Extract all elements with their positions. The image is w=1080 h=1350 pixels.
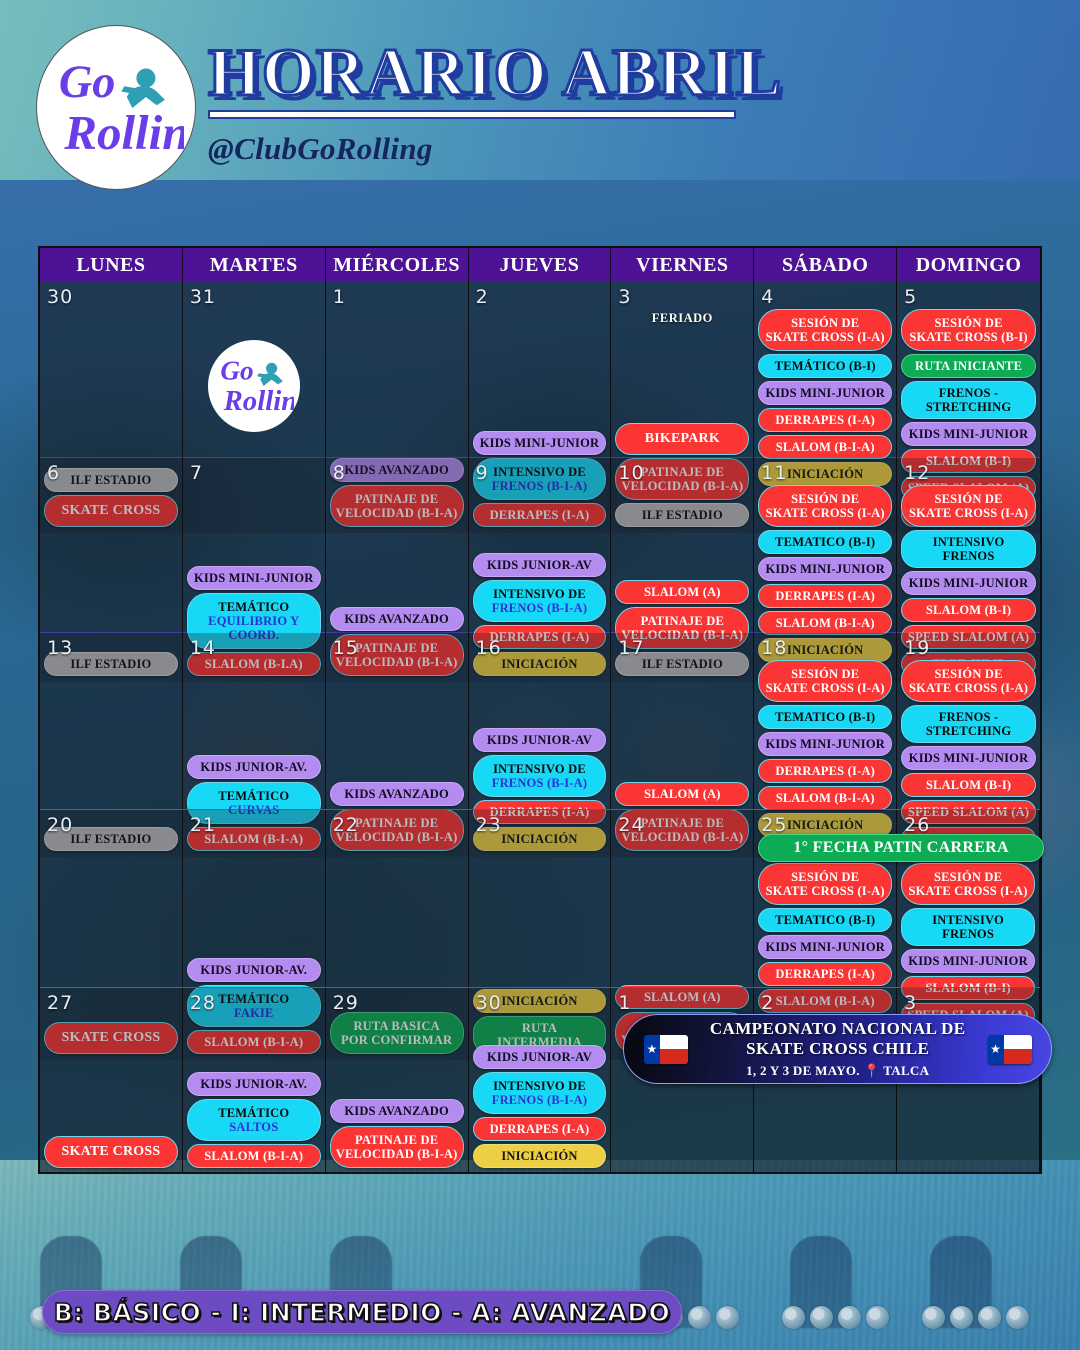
event-pill[interactable]: SESIÓN DESKATE CROSS (I-A) bbox=[901, 863, 1035, 905]
event-pill[interactable]: SLALOM (B-I-A) bbox=[758, 435, 892, 459]
weekday-viernes: VIERNES bbox=[611, 248, 754, 282]
event-label: SLALOM (B-I-A) bbox=[204, 1149, 303, 1163]
event-label: KIDS AVANZADO bbox=[344, 612, 449, 626]
event-label: TEMATICO (B-I) bbox=[775, 535, 875, 549]
day-cell-30[interactable]: 30KIDS JUNIOR-AVINTENSIVO DEFRENOS (B-I-… bbox=[469, 988, 612, 1174]
event-label: INTENSIVO DE bbox=[493, 1079, 586, 1093]
championship-line2: SKATE CROSS CHILE bbox=[710, 1039, 966, 1059]
event-pill[interactable]: KIDS JUNIOR-AV bbox=[473, 1045, 607, 1069]
weekday-sabado: SÁBADO bbox=[754, 248, 897, 282]
event-label: KIDS MINI-JUNIOR bbox=[908, 954, 1028, 968]
event-label: DERRAPES (I-A) bbox=[775, 764, 875, 778]
event-label: DERRAPES (I-A) bbox=[490, 1122, 590, 1136]
legend-bar: B: BÁSICO - I: INTERMEDIO - A: AVANZADO bbox=[42, 1290, 682, 1334]
event-label: INTENSIVO FRENOS bbox=[933, 535, 1005, 563]
event-label: SESIÓN DE bbox=[791, 870, 859, 884]
event-list bbox=[615, 1168, 749, 1170]
day-cell-27[interactable]: 27SKATE CROSS bbox=[40, 988, 183, 1174]
day-number: 23 bbox=[473, 812, 607, 835]
day-number: 21 bbox=[187, 812, 321, 835]
day-number: 5 bbox=[901, 284, 1036, 307]
day-number: 22 bbox=[330, 812, 464, 835]
weekday-header-row: LUNES MARTES MIÉRCOLES JUEVES VIERNES SÁ… bbox=[40, 248, 1040, 282]
event-label: KIDS JUNIOR-AV bbox=[487, 558, 592, 572]
event-sublabel: SKATE CROSS (I-A) bbox=[764, 330, 886, 344]
day-number: 2 bbox=[473, 284, 607, 307]
event-label: INICIACIÓN bbox=[501, 1149, 577, 1163]
day-number: 17 bbox=[615, 635, 749, 658]
event-label: SESIÓN DE bbox=[934, 316, 1002, 330]
event-label: TEMATICO (B-I) bbox=[775, 913, 875, 927]
calendar-week-2: 6ILF ESTADIO7KIDS MINI-JUNIORTEMÁTICOEQU… bbox=[40, 457, 1040, 632]
day-number: 16 bbox=[473, 635, 607, 658]
event-pill[interactable]: KIDS MINI-JUNIOR bbox=[187, 566, 321, 590]
event-pill[interactable]: SESIÓN DESKATE CROSS (I-A) bbox=[758, 485, 892, 527]
event-pill[interactable]: KIDS MINI-JUNIOR bbox=[901, 746, 1036, 770]
event-sublabel: FRENOS (B-I-A) bbox=[479, 776, 601, 790]
event-pill[interactable]: SKATE CROSS bbox=[44, 1136, 178, 1168]
event-label: KIDS MINI-JUNIOR bbox=[909, 751, 1029, 765]
event-label: SKATE CROSS bbox=[62, 1144, 161, 1159]
event-pill[interactable]: TEMATICO (B-I) bbox=[758, 530, 892, 554]
day-number: 10 bbox=[615, 460, 749, 483]
legend-text: B: BÁSICO - I: INTERMEDIO - A: AVANZADO bbox=[54, 1298, 671, 1327]
event-pill[interactable]: INTENSIVO DEFRENOS (B-I-A) bbox=[473, 580, 607, 622]
event-pill[interactable]: FRENOS - STRETCHING bbox=[901, 705, 1036, 743]
event-pill[interactable]: SLALOM (B-I) bbox=[901, 598, 1036, 622]
event-label: SESIÓN DE bbox=[791, 667, 859, 681]
calendar-week-3: 13ILF ESTADIO14KIDS JUNIOR-AV.TEMÁTICOCU… bbox=[40, 632, 1040, 809]
event-sublabel: SKATE CROSS (I-A) bbox=[907, 506, 1030, 520]
weekday-miercoles: MIÉRCOLES bbox=[326, 248, 469, 282]
event-pill[interactable]: INICIACIÓN bbox=[473, 1144, 607, 1168]
day-number: 31 bbox=[187, 284, 321, 307]
event-pill[interactable]: TEMATICO (B-I) bbox=[758, 908, 892, 932]
event-pill[interactable]: FRENOS - STRETCHING bbox=[901, 381, 1036, 419]
day-number: 9 bbox=[473, 460, 607, 483]
championship-line3: 1, 2 Y 3 DE MAYO. 📍 TALCA bbox=[710, 1063, 966, 1079]
event-pill[interactable]: SLALOM (B-I-A) bbox=[758, 786, 892, 810]
event-pill[interactable]: TEMÁTICO (B-I) bbox=[758, 354, 892, 378]
svg-text:Rolling: Rolling bbox=[222, 385, 293, 417]
event-pill[interactable]: KIDS JUNIOR-AV bbox=[473, 553, 607, 577]
event-pill[interactable]: INTENSIVO DEFRENOS (B-I-A) bbox=[473, 755, 607, 797]
calendar-week-5: 27SKATE CROSS28KIDS JUNIOR-AV.TEMÁTICOSA… bbox=[40, 987, 1040, 1174]
day-number: 20 bbox=[44, 812, 178, 835]
event-pill[interactable]: KIDS AVANZADO bbox=[330, 1099, 464, 1123]
day-cell-29[interactable]: 29KIDS AVANZADOPATINAJE DEVELOCIDAD (B-I… bbox=[326, 988, 469, 1174]
event-label: KIDS MINI-JUNIOR bbox=[765, 940, 885, 954]
event-label: SESIÓN DE bbox=[934, 667, 1002, 681]
day-number: 8 bbox=[330, 460, 464, 483]
event-pill[interactable]: SLALOM (B-I-A) bbox=[187, 1144, 321, 1168]
event-list: SKATE CROSS bbox=[44, 1136, 178, 1170]
event-label: SESIÓN DE bbox=[934, 492, 1002, 506]
day-note: FERIADO bbox=[615, 311, 749, 326]
event-list: KIDS JUNIOR-AVINTENSIVO DEFRENOS (B-I-A)… bbox=[473, 1045, 607, 1170]
calendar-grid: LUNES MARTES MIÉRCOLES JUEVES VIERNES SÁ… bbox=[38, 246, 1042, 1174]
day-number: 26 bbox=[901, 812, 1035, 835]
event-pill[interactable]: KIDS MINI-JUNIOR bbox=[758, 935, 892, 959]
event-label: TEMÁTICO bbox=[218, 600, 289, 614]
event-label: FRENOS - STRETCHING bbox=[926, 710, 1011, 738]
day-number: 1 bbox=[330, 284, 464, 307]
event-pill[interactable]: BIKEPARK bbox=[615, 423, 749, 455]
event-pill[interactable]: SESIÓN DESKATE CROSS (I-A) bbox=[901, 660, 1036, 702]
title-block: HORARIO ABRIL @ClubGoRolling bbox=[208, 38, 782, 167]
day-number: 27 bbox=[44, 990, 178, 1013]
event-label: TEMÁTICO bbox=[218, 789, 289, 803]
event-label: SLALOM (B-I) bbox=[926, 603, 1011, 617]
event-label: INTENSIVO DE bbox=[493, 587, 586, 601]
location-pin-icon: 📍 bbox=[863, 1063, 880, 1078]
event-pill[interactable]: INTENSIVO DEFRENOS (B-I-A) bbox=[473, 1072, 607, 1114]
event-pill[interactable]: KIDS MINI-JUNIOR bbox=[473, 431, 607, 455]
championship-location: TALCA bbox=[883, 1063, 929, 1078]
go-rolling-logo: Go Rolling bbox=[36, 25, 196, 190]
event-pill[interactable]: KIDS AVANZADO bbox=[330, 782, 464, 806]
day-number: 14 bbox=[187, 635, 321, 658]
event-list bbox=[758, 1168, 892, 1170]
event-label: KIDS MINI-JUNIOR bbox=[480, 436, 600, 450]
event-label: PATINAJE DE bbox=[355, 1133, 438, 1147]
day-number: 13 bbox=[44, 635, 178, 658]
weekday-lunes: LUNES bbox=[40, 248, 183, 282]
day-number: 12 bbox=[901, 460, 1036, 483]
race-date-banner[interactable]: 1° FECHA PATIN CARRERA bbox=[758, 834, 1044, 862]
day-number: 19 bbox=[901, 635, 1036, 658]
event-sublabel: FRENOS (B-I-A) bbox=[479, 1093, 601, 1107]
event-label: KIDS AVANZADO bbox=[344, 787, 449, 801]
day-number: 30 bbox=[44, 284, 178, 307]
chile-flag-icon: ★ bbox=[644, 1035, 688, 1064]
event-label: RUTA INICIANTE bbox=[915, 359, 1022, 373]
day-cell-28[interactable]: 28KIDS JUNIOR-AV.TEMÁTICOSALTOSSLALOM (B… bbox=[183, 988, 326, 1174]
event-pill[interactable]: SLALOM (A) bbox=[615, 782, 749, 806]
event-pill[interactable]: SESIÓN DESKATE CROSS (I-A) bbox=[758, 309, 892, 351]
calendar-week-1: 30ILF ESTADIOSKATE CROSS31GoRolling1KIDS… bbox=[40, 282, 1040, 457]
weekday-domingo: DOMINGO bbox=[897, 248, 1040, 282]
event-pill[interactable]: KIDS MINI-JUNIOR bbox=[758, 381, 892, 405]
event-pill[interactable]: SESIÓN DESKATE CROSS (I-A) bbox=[901, 485, 1036, 527]
chile-flag-icon: ★ bbox=[988, 1035, 1032, 1064]
event-pill[interactable]: TEMATICO (B-I) bbox=[758, 705, 892, 729]
event-label: KIDS JUNIOR-AV bbox=[487, 733, 592, 747]
svg-text:Go: Go bbox=[59, 57, 116, 108]
event-label: TEMÁTICO (B-I) bbox=[775, 359, 876, 373]
weekday-jueves: JUEVES bbox=[469, 248, 612, 282]
event-label: KIDS JUNIOR-AV. bbox=[200, 1077, 307, 1091]
event-sublabel: SKATE CROSS (B-I) bbox=[907, 330, 1030, 344]
day-number: 18 bbox=[758, 635, 892, 658]
event-label: SESIÓN DE bbox=[791, 492, 859, 506]
event-pill[interactable]: DERRAPES (I-A) bbox=[758, 759, 892, 783]
event-label: PATINAJE DE bbox=[641, 614, 724, 628]
event-pill[interactable]: KIDS JUNIOR-AV bbox=[473, 728, 607, 752]
event-pill[interactable]: SESIÓN DESKATE CROSS (B-I) bbox=[901, 309, 1036, 351]
day-number: 24 bbox=[615, 812, 749, 835]
event-label: KIDS MINI-JUNIOR bbox=[909, 576, 1029, 590]
event-pill[interactable]: KIDS AVANZADO bbox=[330, 607, 464, 631]
event-label: TEMATICO (B-I) bbox=[775, 710, 875, 724]
event-label: INTENSIVO DE bbox=[493, 762, 586, 776]
event-label: KIDS MINI-JUNIOR bbox=[765, 386, 885, 400]
day-number: 3 bbox=[901, 990, 1035, 1013]
event-label: BIKEPARK bbox=[645, 431, 720, 446]
club-handle: @ClubGoRolling bbox=[208, 131, 782, 167]
event-pill[interactable]: KIDS JUNIOR-AV. bbox=[187, 1072, 321, 1096]
event-label: KIDS MINI-JUNIOR bbox=[909, 427, 1029, 441]
weekday-martes: MARTES bbox=[183, 248, 326, 282]
event-pill[interactable]: TEMÁTICOSALTOS bbox=[187, 1099, 321, 1141]
event-sublabel: SKATE CROSS (I-A) bbox=[764, 506, 886, 520]
event-list: KIDS AVANZADOPATINAJE DEVELOCIDAD (B-I-A… bbox=[330, 1099, 464, 1170]
day-number: 25 bbox=[758, 812, 892, 835]
svg-text:Rolling: Rolling bbox=[63, 104, 184, 159]
day-number: 2 bbox=[758, 990, 892, 1013]
event-label: KIDS JUNIOR-AV. bbox=[200, 760, 307, 774]
event-list bbox=[901, 1168, 1035, 1170]
day-number: 28 bbox=[187, 990, 321, 1013]
event-pill[interactable]: DERRAPES (I-A) bbox=[758, 962, 892, 986]
event-label: DERRAPES (I-A) bbox=[775, 589, 875, 603]
event-list: KIDS JUNIOR-AV.TEMÁTICOSALTOSSLALOM (B-I… bbox=[187, 1072, 321, 1170]
event-sublabel: SALTOS bbox=[193, 1120, 315, 1134]
event-pill[interactable]: DERRAPES (I-A) bbox=[758, 408, 892, 432]
event-pill[interactable]: SESIÓN DESKATE CROSS (I-A) bbox=[758, 863, 892, 905]
event-pill[interactable]: SLALOM (B-I) bbox=[901, 773, 1036, 797]
championship-text: CAMPEONATO NACIONAL DESKATE CROSS CHILE1… bbox=[710, 1019, 966, 1078]
page-title: HORARIO ABRIL bbox=[208, 38, 782, 106]
go-rolling-logo-small: GoRolling bbox=[208, 340, 300, 432]
event-label: KIDS JUNIOR-AV bbox=[487, 1050, 592, 1064]
event-label: SLALOM (B-I-A) bbox=[776, 616, 875, 630]
event-label: SLALOM (A) bbox=[644, 585, 721, 599]
event-label: SLALOM (B-I-A) bbox=[776, 791, 875, 805]
event-label: KIDS MINI-JUNIOR bbox=[194, 571, 314, 585]
event-sublabel: SKATE CROSS (I-A) bbox=[764, 884, 886, 898]
event-pill[interactable]: KIDS MINI-JUNIOR bbox=[758, 557, 892, 581]
calendar-weeks: 30ILF ESTADIOSKATE CROSS31GoRolling1KIDS… bbox=[40, 282, 1040, 1174]
day-number: 15 bbox=[330, 635, 464, 658]
svg-text:Go: Go bbox=[220, 356, 253, 386]
day-number: 3 bbox=[615, 284, 749, 307]
event-label: SESIÓN DE bbox=[934, 870, 1002, 884]
event-label: KIDS AVANZADO bbox=[344, 1104, 449, 1118]
championship-dates: 1, 2 Y 3 DE MAYO. bbox=[746, 1063, 860, 1078]
event-label: SESIÓN DE bbox=[791, 316, 859, 330]
event-sublabel: SKATE CROSS (I-A) bbox=[907, 884, 1029, 898]
event-pill[interactable]: SESIÓN DESKATE CROSS (I-A) bbox=[758, 660, 892, 702]
day-number: 11 bbox=[758, 460, 892, 483]
event-label: SLALOM (B-I-A) bbox=[776, 440, 875, 454]
day-number: 7 bbox=[187, 460, 321, 483]
event-pill[interactable]: SLALOM (B-I-A) bbox=[758, 611, 892, 635]
event-pill[interactable]: KIDS JUNIOR-AV. bbox=[187, 958, 321, 982]
event-sublabel: SKATE CROSS (I-A) bbox=[907, 681, 1030, 695]
event-pill[interactable]: KIDS MINI-JUNIOR bbox=[901, 422, 1036, 446]
event-sublabel: VELOCIDAD (B-I-A) bbox=[336, 1147, 458, 1161]
event-label: SLALOM (B-I) bbox=[926, 778, 1011, 792]
day-number: 1 bbox=[615, 990, 749, 1013]
event-label: KIDS JUNIOR-AV. bbox=[200, 963, 307, 977]
event-pill[interactable]: KIDS MINI-JUNIOR bbox=[758, 732, 892, 756]
event-label: DERRAPES (I-A) bbox=[775, 413, 875, 427]
event-pill[interactable]: PATINAJE DEVELOCIDAD (B-I-A) bbox=[330, 1126, 464, 1168]
event-pill[interactable]: DERRAPES (I-A) bbox=[473, 1117, 607, 1141]
title-underline bbox=[208, 110, 736, 119]
event-label: KIDS MINI-JUNIOR bbox=[765, 562, 885, 576]
championship-banner[interactable]: ★CAMPEONATO NACIONAL DESKATE CROSS CHILE… bbox=[623, 1014, 1052, 1084]
calendar-week-4: 20SKATE CROSS21KIDS JUNIOR-AV.TEMÁTICOFA… bbox=[40, 809, 1040, 987]
event-pill[interactable]: INTENSIVO FRENOS bbox=[901, 530, 1036, 568]
event-label: INTENSIVO FRENOS bbox=[932, 913, 1004, 941]
event-label: FRENOS - STRETCHING bbox=[926, 386, 1011, 414]
day-number: 4 bbox=[758, 284, 892, 307]
event-pill[interactable]: KIDS JUNIOR-AV. bbox=[187, 755, 321, 779]
day-number: 29 bbox=[330, 990, 464, 1013]
event-label: TEMÁTICO bbox=[218, 1106, 289, 1120]
event-label: SLALOM (A) bbox=[644, 787, 721, 801]
event-pill[interactable]: KIDS MINI-JUNIOR bbox=[901, 571, 1036, 595]
event-label: KIDS MINI-JUNIOR bbox=[765, 737, 885, 751]
event-pill[interactable]: DERRAPES (I-A) bbox=[758, 584, 892, 608]
event-pill[interactable]: SLALOM (A) bbox=[615, 580, 749, 604]
event-pill[interactable]: KIDS MINI-JUNIOR bbox=[901, 949, 1035, 973]
day-number: 30 bbox=[473, 990, 607, 1013]
day-number: 6 bbox=[44, 460, 178, 483]
event-label: DERRAPES (I-A) bbox=[775, 967, 875, 981]
event-pill[interactable]: RUTA INICIANTE bbox=[901, 354, 1036, 378]
event-sublabel: FRENOS (B-I-A) bbox=[479, 601, 601, 615]
event-sublabel: SKATE CROSS (I-A) bbox=[764, 681, 886, 695]
championship-line1: CAMPEONATO NACIONAL DE bbox=[710, 1019, 966, 1039]
page-header: Go Rolling HORARIO ABRIL @ClubGoRolling bbox=[0, 0, 1080, 230]
event-pill[interactable]: INTENSIVO FRENOS bbox=[901, 908, 1035, 946]
